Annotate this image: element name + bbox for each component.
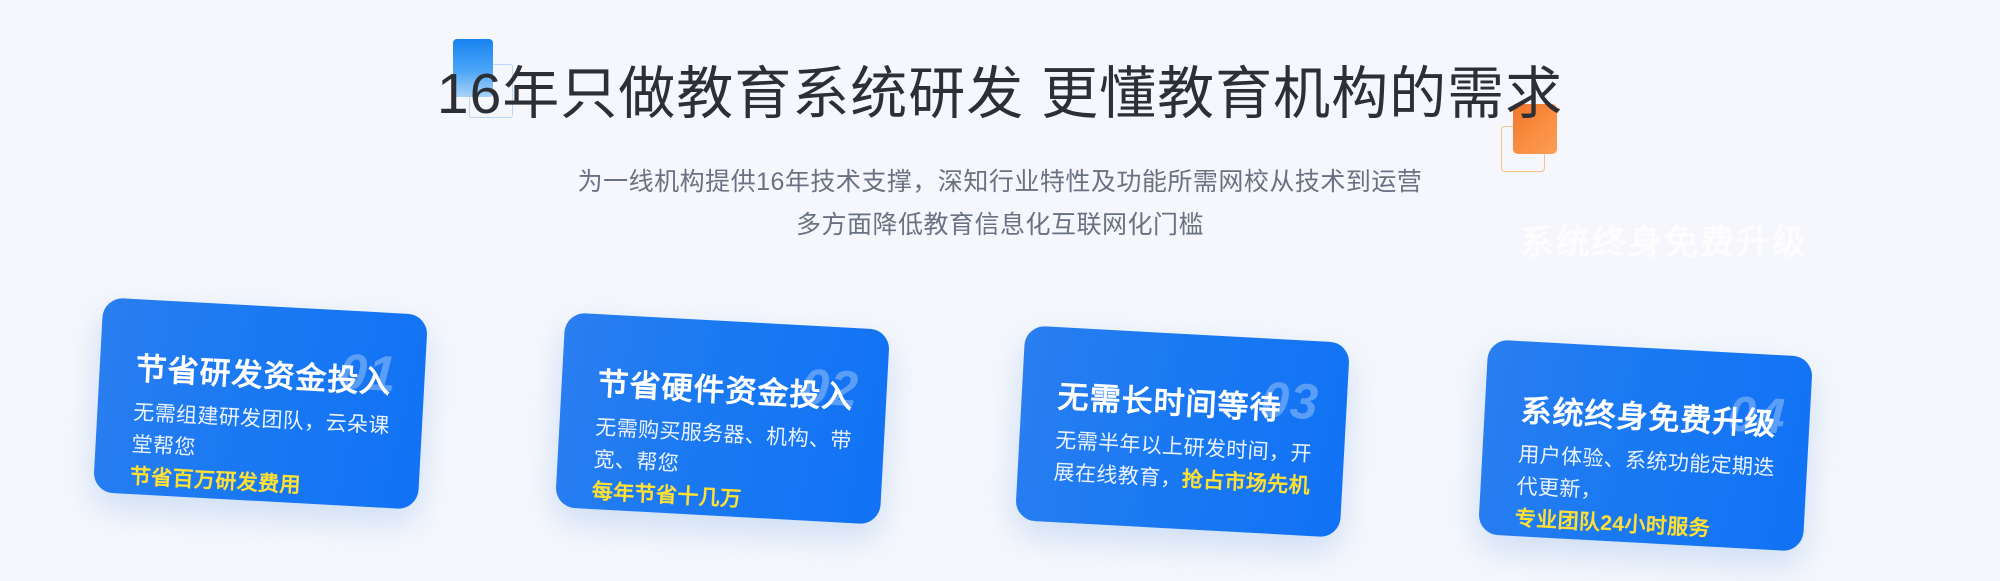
card-body-highlight: 专业团队24小时服务 — [1514, 507, 1710, 541]
feature-card-01[interactable]: 01 节省研发资金投入 无需组建研发团队，云朵课堂帮您节省百万研发费用 — [93, 297, 428, 509]
card-body: 无需半年以上研发时间，开展在线教育，抢占市场先机 — [1053, 425, 1318, 503]
card-body-plain: 用户体验、系统功能定期迭代更新， — [1516, 443, 1775, 503]
card-body: 用户体验、系统功能定期迭代更新，专业团队24小时服务 — [1514, 439, 1787, 549]
feature-card-04[interactable]: 04 系统终身免费升级 用户体验、系统功能定期迭代更新，专业团队24小时服务 — [1478, 339, 1813, 551]
card-body: 无需购买服务器、机构、带宽、帮您每年节省十几万 — [591, 412, 858, 522]
card-body-plain: 无需购买服务器、机构、带宽、帮您 — [593, 416, 852, 476]
card-body-highlight: 每年节省十几万 — [591, 480, 742, 511]
card-title: 无需长时间等待 — [1057, 371, 1283, 428]
feature-card-02[interactable]: 02 节省硬件资金投入 无需购买服务器、机构、带宽、帮您每年节省十几万 — [555, 312, 890, 524]
feature-card-list: 01 节省研发资金投入 无需组建研发团队，云朵课堂帮您节省百万研发费用 02 节… — [0, 0, 2000, 581]
card-body-highlight: 抢占市场先机 — [1181, 468, 1310, 498]
feature-card-03[interactable]: 03 无需长时间等待 无需半年以上研发时间，开展在线教育，抢占市场先机 — [1015, 325, 1350, 537]
promo-banner: 16年只做教育系统研发 更懂教育机构的需求 为一线机构提供16年技术支撑，深知行… — [0, 0, 2000, 581]
card-body-highlight: 节省百万研发费用 — [129, 465, 301, 497]
card-body: 无需组建研发团队，云朵课堂帮您节省百万研发费用 — [129, 397, 394, 507]
card-body-plain: 无需组建研发团队，云朵课堂帮您 — [131, 401, 390, 459]
